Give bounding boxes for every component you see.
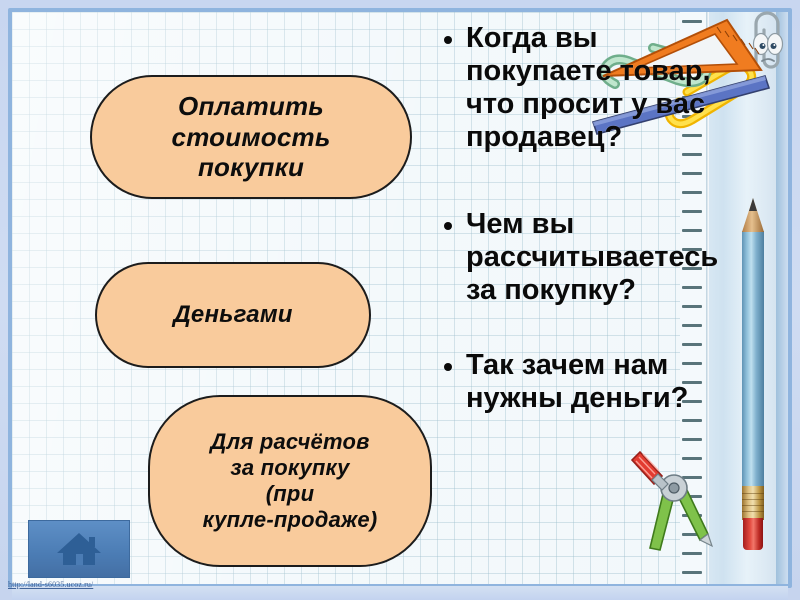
pencil-lead: [749, 198, 757, 211]
bottom-strip: [12, 586, 788, 600]
home-button[interactable]: [28, 520, 130, 578]
home-icon: [51, 529, 107, 569]
box-pay-cost[interactable]: Оплатить стоимость покупки: [90, 75, 412, 199]
box-settlement-label: Для расчётов за покупку (при купле-прода…: [187, 429, 394, 533]
question-list: Когда вы покупаете товар, что просит у в…: [440, 22, 732, 415]
pencil-icon: [742, 198, 764, 550]
box-money[interactable]: Деньгами: [95, 262, 371, 368]
question-item-1: Когда вы покупаете товар, что просит у в…: [440, 22, 732, 154]
box-settlement[interactable]: Для расчётов за покупку (при купле-прода…: [148, 395, 432, 567]
source-url-link[interactable]: http://land-s6035.ucoz.ru/: [8, 580, 93, 589]
question-item-2: Чем вы рассчитываетесь за покупку?: [440, 208, 732, 307]
pencil-eraser: [743, 518, 763, 550]
box-money-label: Деньгами: [157, 301, 308, 329]
pencil-ferrule: [742, 486, 764, 520]
ruler-edge: [776, 12, 788, 584]
compass-icon: [628, 448, 720, 558]
box-pay-cost-label: Оплатить стоимость покупки: [156, 91, 347, 183]
question-item-3: Так зачем нам нужны деньги?: [440, 349, 732, 415]
slide-canvas: Оплатить стоимость покупки Деньгами Для …: [0, 0, 800, 600]
pencil-body: [742, 231, 764, 486]
